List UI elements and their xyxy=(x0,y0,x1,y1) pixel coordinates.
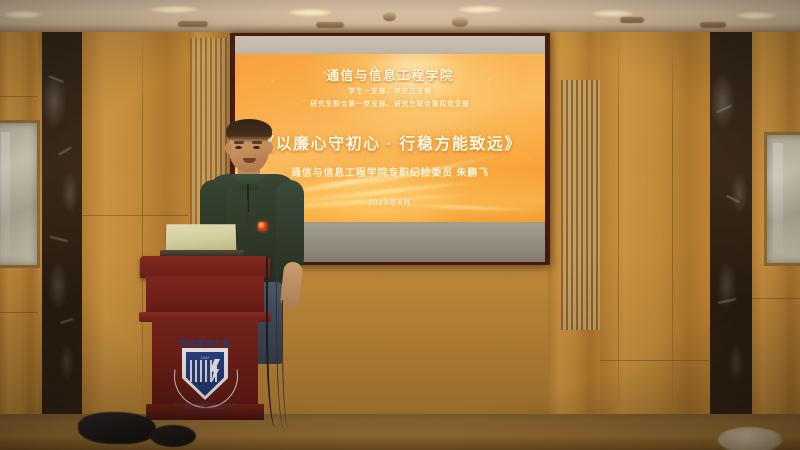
wall-glass-panel-left xyxy=(0,120,40,268)
ceiling-light xyxy=(4,11,42,18)
mic-cable xyxy=(247,200,254,248)
slide-subline-1: 学生一支部、学生三支部 xyxy=(235,86,545,96)
wall-marble-strip-right xyxy=(710,32,752,416)
wood-seam xyxy=(0,96,38,97)
wood-seam xyxy=(752,298,800,299)
ceiling-light xyxy=(150,6,198,13)
wood-seam xyxy=(142,32,143,416)
ceiling-light xyxy=(288,9,332,16)
lecture-hall-photo: 通信与信息工程学院 学生一支部、学生三支部 研究生联合第一党支部、研究生联合第四… xyxy=(0,0,800,450)
emblem-chinese-name: 南京邮电大学 xyxy=(168,338,242,349)
smoke-detector-icon xyxy=(452,17,468,27)
speaker-eye xyxy=(253,146,260,149)
projection-letterbox-top xyxy=(235,36,545,54)
floor-bag-secondary xyxy=(150,425,196,447)
slide-subline-2: 研究生联合第一党支部、研究生联合第四党支部 xyxy=(235,99,545,109)
wood-seam xyxy=(0,312,38,313)
wood-seam xyxy=(618,32,619,416)
ceiling-light xyxy=(592,10,634,17)
wood-seam xyxy=(600,360,710,361)
university-emblem: 南京邮电大学 1942 NANJING UNIVERSITY OF POSTS … xyxy=(168,330,242,412)
ceiling-fixture xyxy=(178,21,208,27)
party-badge-pin-icon xyxy=(258,222,267,231)
ceiling-fixture xyxy=(700,22,726,28)
wall-glass-panel-right xyxy=(764,132,800,266)
wood-seam xyxy=(672,32,673,416)
ceiling-fixture xyxy=(316,22,344,28)
speaker-eyebrow xyxy=(234,141,244,144)
floor-object-right xyxy=(718,427,782,450)
wood-seam xyxy=(82,215,188,216)
smoke-detector-icon xyxy=(383,12,396,21)
glass-sheen xyxy=(773,143,783,256)
speaker-eye xyxy=(235,146,242,149)
ceiling-light xyxy=(458,6,504,13)
wall-wood-panel-right xyxy=(600,32,710,416)
laptop-screen xyxy=(166,224,237,252)
ceiling-light xyxy=(736,12,776,19)
emblem-english-name: NANJING UNIVERSITY OF POSTS AND TELECOMM… xyxy=(168,402,242,410)
speaker-hair xyxy=(226,119,272,143)
podium-top-surface xyxy=(140,256,270,278)
slide-department-line: 通信与信息工程学院 xyxy=(235,65,545,84)
speaker-ear xyxy=(225,142,232,154)
floor-bag xyxy=(78,412,156,444)
ceiling-fixture xyxy=(620,17,644,23)
glass-sheen xyxy=(1,132,10,257)
podium-body xyxy=(146,276,264,316)
speaker-ear xyxy=(266,142,273,154)
speaker-eyebrow xyxy=(252,141,262,144)
wall-marble-strip-left xyxy=(42,32,82,416)
